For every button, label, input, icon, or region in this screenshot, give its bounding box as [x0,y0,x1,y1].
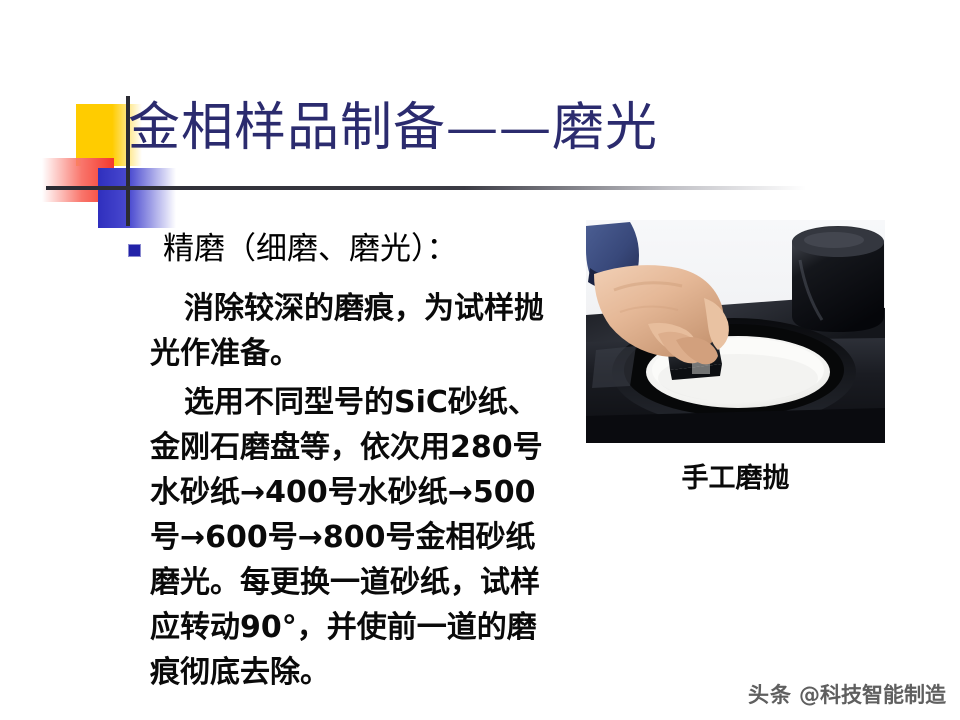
body-text-block: 消除较深的磨痕，为试样抛光作准备。 选用不同型号的SiC砂纸、金刚石磨盘等，依次… [150,286,560,699]
page-title: 金相样品制备——磨光 [128,97,658,159]
ornament-blue-square [98,168,176,228]
square-bullet-icon [128,244,141,257]
hand-polishing-machine-photo [586,220,885,443]
body-paragraph: 消除较深的磨痕，为试样抛光作准备。 [150,286,560,376]
watermark-handle: @科技智能制造 [799,682,946,708]
bullet-item-main: 精磨（细磨、磨光）： [128,228,458,270]
body-paragraph: 选用不同型号的SiC砂纸、金刚石磨盘等，依次用280号水砂纸→400号水砂纸→5… [150,380,560,695]
photo-illustration [586,220,885,443]
slide-canvas: 金相样品制备——磨光 精磨（细磨、磨光）： 消除较深的磨痕，为试样抛光作准备。 … [0,0,960,720]
photo-caption: 手工磨抛 [586,462,885,496]
watermark-brand: 头条 [748,682,792,708]
polishing-head [792,226,884,332]
bullet-item-label: 精磨（细磨、磨光）： [163,228,458,270]
watermark: 头条 @科技智能制造 [748,682,946,708]
title-underline-rule [46,186,806,190]
